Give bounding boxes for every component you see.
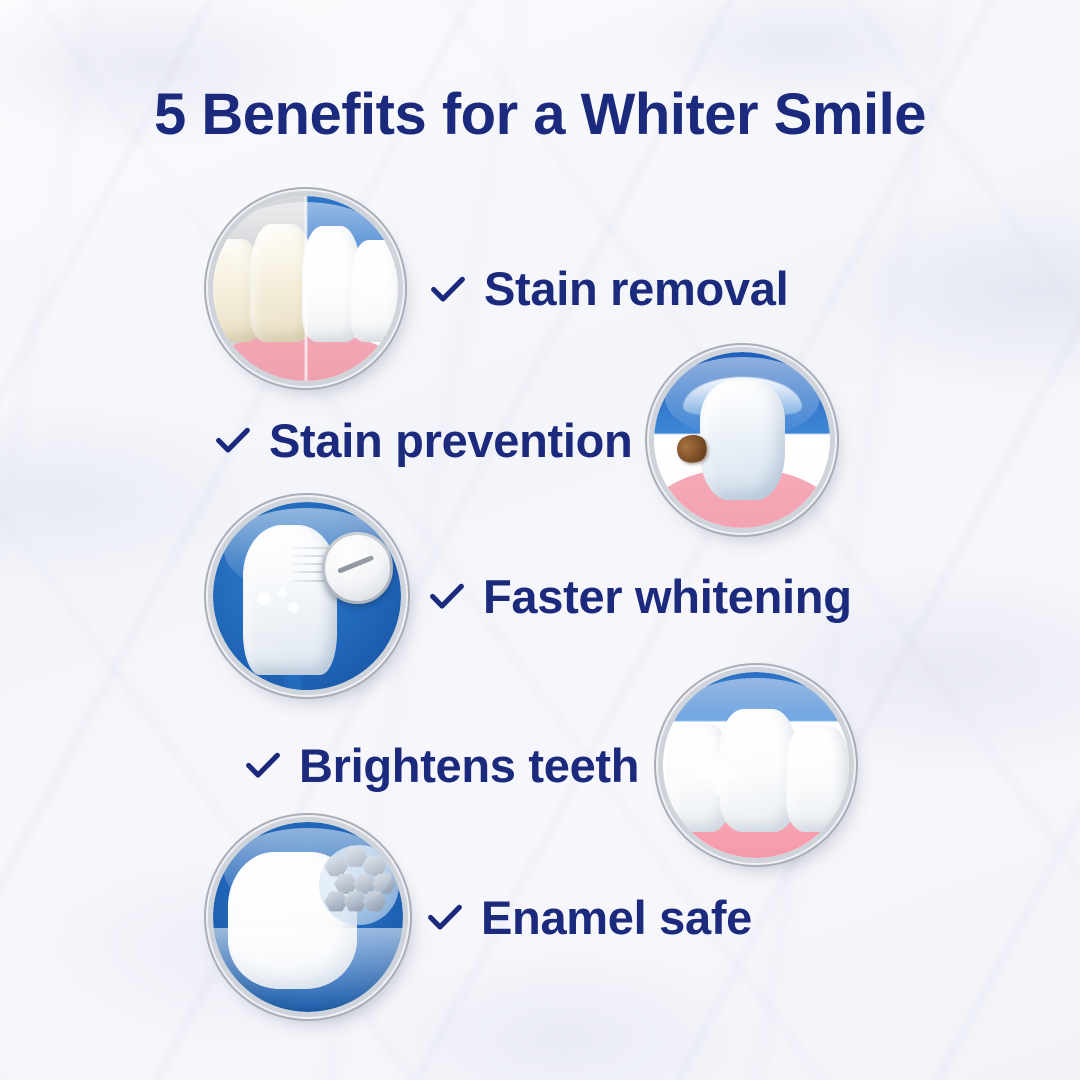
benefit-row-faster-whitening: Faster whitening (213, 502, 852, 690)
benefit-text: Faster whitening (483, 569, 852, 624)
benefit-label-enamel-safe: Enamel safe (425, 890, 752, 945)
tooth-enamel-hexagon-structure-circle (213, 822, 403, 1012)
benefit-label-faster-whitening: Faster whitening (427, 569, 852, 624)
enamel-hexagon-magnifier (319, 845, 399, 925)
check-icon (243, 745, 283, 785)
tooth-white-2 (350, 240, 398, 342)
benefit-text: Stain prevention (269, 413, 632, 468)
benefit-label-stain-removal: Stain removal (428, 261, 788, 316)
benefit-text: Enamel safe (481, 890, 752, 945)
sparkle-highlight (254, 585, 303, 619)
tooth (700, 380, 784, 500)
check-icon (427, 576, 467, 616)
sparkle-highlight (697, 754, 738, 795)
check-icon (213, 420, 253, 460)
benefit-text: Stain removal (484, 261, 788, 316)
tooth-3 (786, 726, 849, 832)
check-icon (428, 269, 468, 309)
benefit-label-stain-prevention: Stain prevention (213, 413, 632, 468)
tooth-with-speed-dial-circle (213, 502, 401, 690)
check-icon (425, 897, 465, 937)
benefit-row-enamel-safe: Enamel safe (213, 822, 752, 1012)
page-title: 5 Benefits for a Whiter Smile (0, 86, 1080, 144)
benefit-label-brightens-teeth: Brightens teeth (243, 738, 639, 793)
white-fade (213, 928, 403, 1012)
benefit-text: Brightens teeth (299, 738, 639, 793)
speedometer-dial-icon (322, 532, 393, 603)
